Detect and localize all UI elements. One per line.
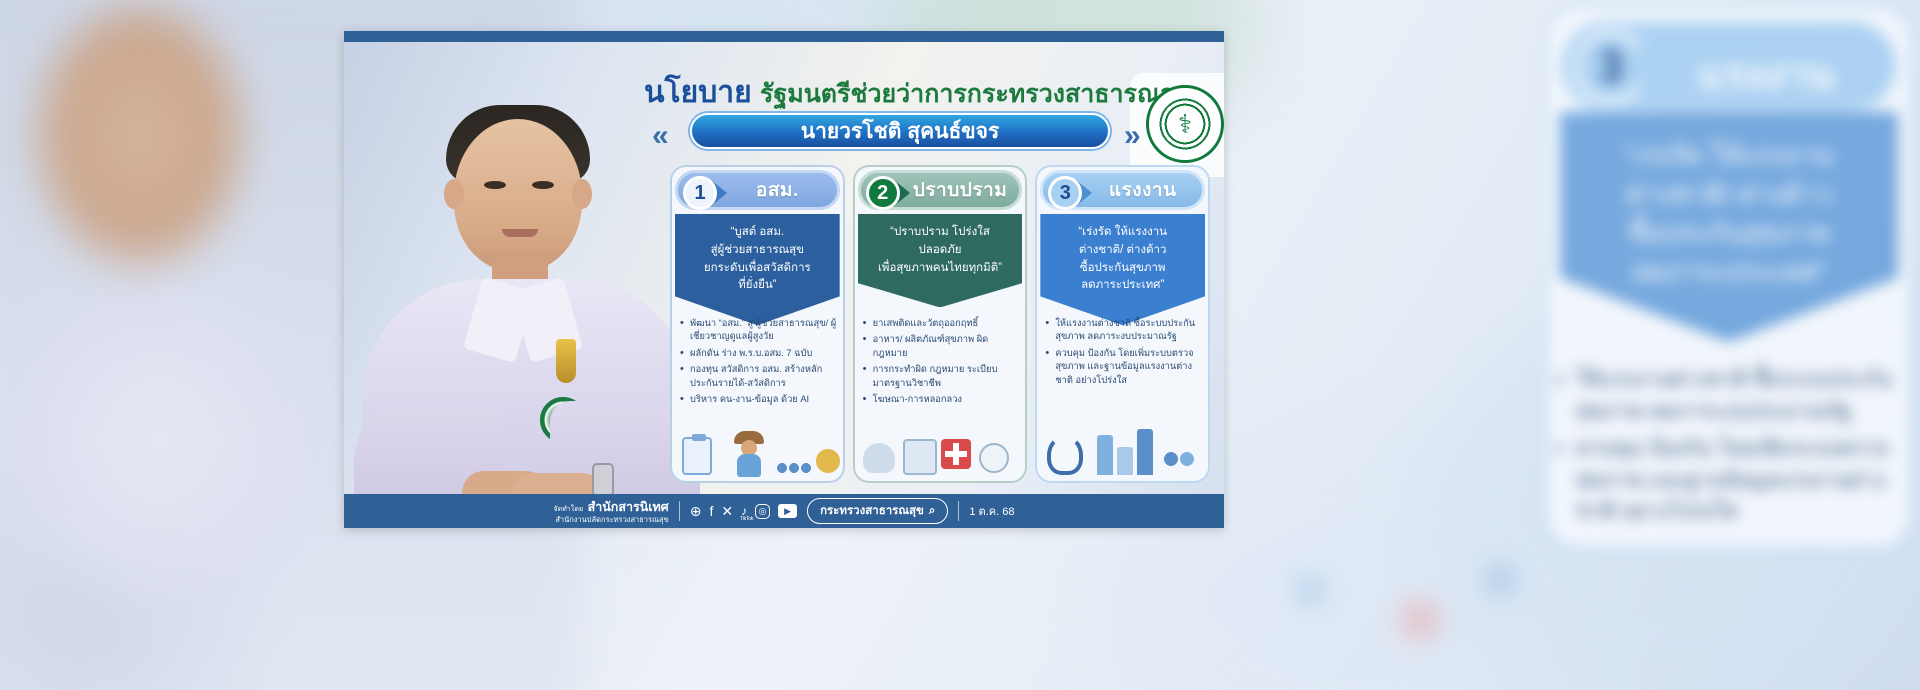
photo-eye-left [484, 181, 506, 189]
background-card3-bullets: ให้แรงงานต่างชาติ ซื้อระบบประกันสุขภาพ ล… [1576, 364, 1892, 534]
page-title: นโยบาย รัฐมนตรีช่วยว่าการกระทรวงสาธารณสุ… [644, 69, 1164, 116]
photo-head [454, 119, 582, 271]
facebook-icon[interactable]: f [709, 504, 713, 518]
title-lead: นโยบาย [644, 76, 752, 109]
card-1-number-badge: 1 [683, 176, 717, 210]
card-1-bullet: ผลักดัน ร่าง พ.ร.บ.อสม. 7 ฉบับ [680, 347, 837, 360]
minister-name-bar: นายวรโชติ สุคนธ์ขจร [690, 113, 1110, 149]
footer-credit-sub: สำนักงานปลัดกระทรวงสาธารณสุข [554, 516, 669, 524]
card-1-title: อสม. [724, 175, 831, 205]
medicine-box-icon [903, 439, 937, 475]
policy-cards: 1 อสม. “บูสต์ อสม. สู่ผู้ช่วยสาธารณสุข ย… [670, 165, 1210, 483]
title-rest: รัฐมนตรีช่วยว่าการกระทรวงสาธารณสุข [760, 80, 1193, 108]
website-icon[interactable]: ⊕ [690, 504, 702, 518]
moph-seal-icon: ⚕ [1146, 85, 1224, 163]
card-3-illustration [1041, 425, 1204, 479]
card-2-illustration [859, 425, 1022, 479]
workers-icon [1163, 451, 1203, 475]
card-2-bullets: ยาเสพติดและวัตถุออกฤทธิ์ อาหาร/ ผลิตภัณฑ… [863, 317, 1020, 410]
card-2-bullet: อาหาร/ ผลิตภัณฑ์สุขภาพ ผิดกฎหมาย [863, 333, 1020, 360]
footer-divider-2 [958, 501, 959, 521]
food-plate-icon [979, 443, 1009, 473]
background-card3-quote: “เร่งรัด ให้แรงงาน ต่างชาติ/ ต่างด้าว ซื… [1560, 112, 1898, 342]
background-card3-number: 3 [1574, 30, 1648, 104]
card-1-bullet: พัฒนา “อสม.” สู่ ผู้ช่วยสาธารณสุข/ ผู้เช… [680, 317, 837, 344]
photo-ear-left [444, 179, 464, 209]
card-1-bullets: พัฒนา “อสม.” สู่ ผู้ช่วยสาธารณสุข/ ผู้เช… [680, 317, 837, 410]
publish-date: 1 ต.ค. 68 [969, 502, 1014, 520]
card-1-header: 1 อสม. [675, 170, 840, 210]
card-3-bullet: ควบคุม ป้องกัน โดยเพิ่มระบบตรวจสุขภาพ แล… [1045, 347, 1202, 387]
footer-divider-1 [679, 501, 680, 521]
card-2-bullet: โฆษณา-การหลอกลวง [863, 393, 1020, 406]
tiktok-caption: TikTok [740, 517, 753, 522]
photo-shoulder-badge [556, 339, 576, 383]
card-1-illustration [676, 425, 839, 479]
screenshot-stage: 3 แรงงาน “เร่งรัด ให้แรงงาน ต่างชาติ/ ต่… [0, 0, 1920, 690]
footer-social-icons: ⊕ f ✕ ♪ TikTok ◎ ▶ [690, 504, 797, 519]
building-icon-2 [1117, 447, 1133, 475]
card-3-header: 3 แรงงาน [1040, 170, 1205, 210]
clipboard-icon [682, 437, 712, 475]
stethoscope-icon [1047, 435, 1083, 475]
poster-top-bar [344, 31, 1224, 42]
photo-mouth [502, 229, 538, 237]
chevron-left-icon: « [652, 119, 669, 153]
photo-eye-right [532, 181, 554, 189]
card-2-bullet: ยาเสพติดและวัตถุออกฤทธิ์ [863, 317, 1020, 330]
x-twitter-icon[interactable]: ✕ [721, 504, 733, 518]
volunteer-person-icon [734, 431, 764, 477]
photo-ear-right [572, 179, 592, 209]
card-2-header: 2 ปราบปราม [858, 170, 1023, 210]
policy-card-3: 3 แรงงาน “เร่งรัด ให้แรงงาน ต่างชาติ/ ต่… [1035, 165, 1210, 483]
background-card3-bullet: ให้แรงงานต่างชาติ ซื้อระบบประกันสุขภาพ ล… [1576, 364, 1892, 427]
coin-icon [816, 449, 840, 473]
youtube-icon[interactable]: ▶ [778, 504, 797, 518]
background-card3-title: แรงงาน [1698, 42, 1834, 106]
photo-wristwatch [592, 463, 614, 497]
medical-cross-icon [941, 439, 971, 469]
search-pill-label: กระทรวงสาธารณสุข [820, 502, 924, 520]
card-1-bullet: บริหาร คน-งาน-ข้อมูล ด้วย AI [680, 393, 837, 406]
card-3-title: แรงงาน [1089, 175, 1196, 205]
footer-credit-prefix: จัดทำโดย [554, 506, 584, 513]
card-3-bullets: ให้แรงงานต่างชาติ ซื้อระบบประกันสุขภาพ ล… [1045, 317, 1202, 390]
tiktok-icon[interactable]: ♪ TikTok [741, 505, 747, 517]
building-icon-3 [1137, 429, 1153, 475]
background-card3-bullet: ควบคุม ป้องกัน โดยเพิ่มระบบตรวจสุขภาพ แล… [1576, 433, 1892, 528]
search-pill[interactable]: กระทรวงสาธารณสุข ⌕ [807, 498, 948, 524]
policy-card-1: 1 อสม. “บูสต์ อสม. สู่ผู้ช่วยสาธารณสุข ย… [670, 165, 845, 483]
background-bottom-art [1250, 470, 1550, 690]
card-2-number-badge: 2 [866, 176, 900, 210]
network-dots-icon [776, 461, 812, 475]
footer-credit: จัดทำโดย สำนักสารนิเทศ สำนักงานปลัดกระทร… [554, 498, 669, 524]
search-icon: ⌕ [929, 505, 935, 518]
card-3-bullet: ให้แรงงานต่างชาติ ซื้อระบบประกันสุขภาพ ล… [1045, 317, 1202, 344]
card-1-bullet: กองทุน สวัสดิการ อสม. สร้างหลักประกันราย… [680, 363, 837, 390]
card-2-title: ปราบปราม [907, 175, 1014, 205]
policy-card-2: 2 ปราบปราม “ปราบปราม โปร่งใส ปลอดภัย เพื… [853, 165, 1028, 483]
instagram-icon[interactable]: ◎ [755, 504, 770, 519]
background-card-3-blur: 3 แรงงาน “เร่งรัด ให้แรงงาน ต่างชาติ/ ต่… [1545, 5, 1913, 550]
footer-credit-org: สำนักสารนิเทศ [588, 500, 669, 514]
building-icon-1 [1097, 435, 1113, 475]
card-2-bullet: การกระทำผิด กฎหมาย ระเบียบ มาตรฐานวิชาชี… [863, 363, 1020, 390]
chevron-right-icon: » [1124, 119, 1141, 153]
brain-icon [863, 443, 895, 473]
policy-poster: นโยบาย รัฐมนตรีช่วยว่าการกระทรวงสาธารณสุ… [344, 31, 1224, 528]
poster-footer: จัดทำโดย สำนักสารนิเทศ สำนักงานปลัดกระทร… [344, 494, 1224, 528]
